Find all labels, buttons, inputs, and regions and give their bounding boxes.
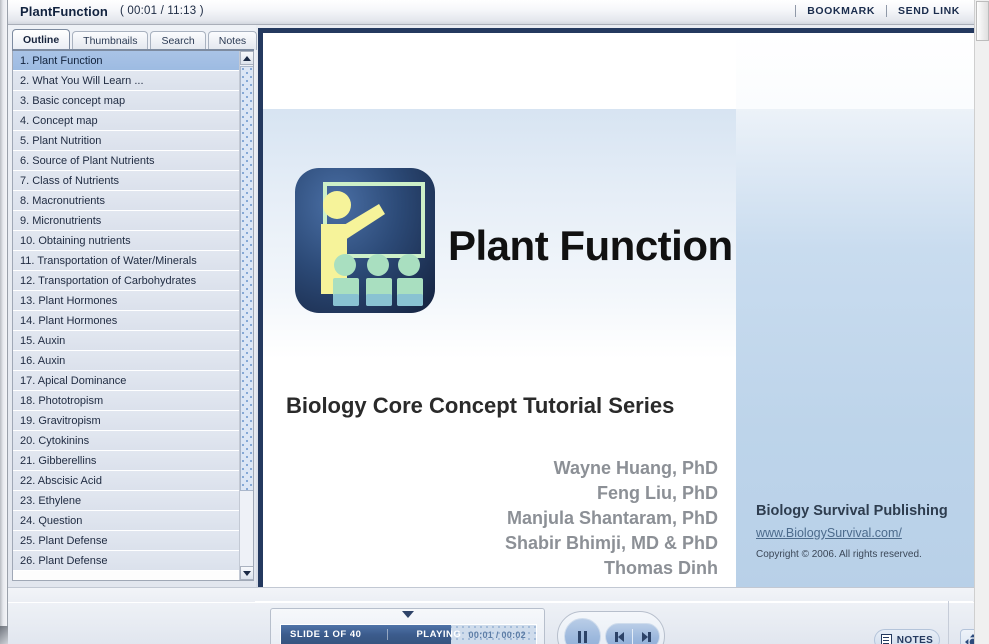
outline-item[interactable]: 23. Ethylene: [13, 491, 241, 511]
pause-icon: [578, 631, 587, 643]
titlebar-actions: BOOKMARK SEND LINK: [784, 5, 960, 17]
control-bar-divider: [948, 601, 949, 644]
step-buttons: [605, 623, 660, 644]
caret-down-icon[interactable]: [402, 611, 414, 618]
outline-item[interactable]: 11. Transportation of Water/Minerals: [13, 251, 241, 271]
author-line: Manjula Shantaram, PhD: [263, 506, 718, 531]
separator: [387, 629, 388, 640]
outline-item[interactable]: 3. Basic concept map: [13, 91, 241, 111]
chevron-down-icon: [243, 571, 251, 576]
separator: [886, 5, 887, 17]
pause-button[interactable]: [564, 618, 601, 644]
progress-bar[interactable]: SLIDE 1 OF 40 PLAYING 00:01 / 00:02: [280, 624, 537, 644]
outline-item[interactable]: 19. Gravitropism: [13, 411, 241, 431]
publisher-name: Biology Survival Publishing: [756, 503, 983, 519]
outline-item[interactable]: 6. Source of Plant Nutrients: [13, 151, 241, 171]
tab-thumbnails[interactable]: Thumbnails: [72, 31, 148, 50]
tab-notes[interactable]: Notes: [208, 31, 257, 50]
titlebar: PlantFunction ( 00:01 / 11:13 ) BOOKMARK…: [8, 0, 974, 25]
scrollbar-thumb[interactable]: [240, 66, 254, 491]
notes-button[interactable]: NOTES: [874, 629, 940, 644]
sidebar: Outline Thumbnails Search Notes 1. Plant…: [8, 25, 256, 587]
scroll-down-button[interactable]: [240, 566, 254, 580]
presentation-player-window: PlantFunction ( 00:01 / 11:13 ) BOOKMARK…: [0, 0, 989, 644]
outline-item[interactable]: 26. Plant Defense: [13, 551, 241, 571]
author-line: Feng Liu, PhD: [263, 481, 718, 506]
page-scrollbar-thumb[interactable]: [976, 1, 989, 41]
outline-item[interactable]: 8. Macronutrients: [13, 191, 241, 211]
outline-item[interactable]: 12. Transportation of Carbohydrates: [13, 271, 241, 291]
outline-item[interactable]: 14. Plant Hormones: [13, 311, 241, 331]
copyright-text: Copyright © 2006. All rights reserved.: [756, 549, 983, 560]
separator: [795, 5, 796, 17]
next-slide-button[interactable]: [633, 632, 659, 642]
player-stage: Outline Thumbnails Search Notes 1. Plant…: [8, 25, 974, 644]
outline-scrollbar[interactable]: [239, 51, 253, 580]
notes-button-label: NOTES: [897, 635, 933, 644]
app-title: PlantFunction: [20, 4, 108, 19]
publisher-url-link[interactable]: www.BiologySurvival.com/: [756, 526, 902, 540]
outline-item[interactable]: 21. Gibberellins: [13, 451, 241, 471]
control-bar-highlight: [255, 601, 973, 602]
playback-controls: [557, 611, 665, 644]
outline-item[interactable]: 1. Plant Function: [13, 51, 241, 71]
author-line: Thomas Dinh: [263, 556, 718, 581]
publisher-block: Biology Survival Publishing www.BiologyS…: [756, 503, 983, 560]
slide-subtitle: Biology Core Concept Tutorial Series: [286, 393, 674, 419]
scroll-up-button[interactable]: [240, 51, 254, 65]
outline-item[interactable]: 15. Auxin: [13, 331, 241, 351]
author-line: Shabir Bhimji, MD & PhD: [263, 531, 718, 556]
send-link-button[interactable]: SEND LINK: [898, 5, 960, 17]
outline-item[interactable]: 2. What You Will Learn ...: [13, 71, 241, 91]
tab-outline[interactable]: Outline: [12, 29, 70, 50]
outline-list[interactable]: 1. Plant Function2. What You Will Learn …: [13, 51, 241, 580]
outline-item[interactable]: 10. Obtaining nutrients: [13, 231, 241, 251]
play-state-label: PLAYING: [416, 629, 461, 640]
outline-item[interactable]: 5. Plant Nutrition: [13, 131, 241, 151]
author-line: Wayne Huang, PhD: [263, 456, 718, 481]
outline-item[interactable]: 24. Question: [13, 511, 241, 531]
slide-canvas[interactable]: Plant Function Biology Core Concept Tuto…: [263, 33, 983, 601]
bookmark-button[interactable]: BOOKMARK: [807, 5, 875, 17]
previous-slide-button[interactable]: [606, 632, 632, 642]
progress-panel: SLIDE 1 OF 40 PLAYING 00:01 / 00:02: [270, 608, 545, 644]
slide-frame: Plant Function Biology Core Concept Tuto…: [258, 28, 988, 606]
outline-item[interactable]: 13. Plant Hormones: [13, 291, 241, 311]
chevron-up-icon: [243, 56, 251, 61]
outline-item[interactable]: 17. Apical Dominance: [13, 371, 241, 391]
sidebar-tabs: Outline Thumbnails Search Notes: [12, 30, 256, 50]
slide-main-title: Plant Function: [448, 222, 733, 270]
outline-panel: 1. Plant Function2. What You Will Learn …: [12, 51, 254, 581]
slide-author-list: Wayne Huang, PhDFeng Liu, PhDManjula Sha…: [263, 456, 718, 581]
slide-time-display: 00:01 / 00:02: [469, 630, 526, 640]
outline-item[interactable]: 20. Cytokinins: [13, 431, 241, 451]
slide-right-header-strip: [736, 33, 983, 109]
page-scrollbar[interactable]: [974, 0, 989, 644]
tab-search[interactable]: Search: [150, 31, 205, 50]
window-left-edge: [0, 0, 8, 644]
total-time-display: ( 00:01 / 11:13 ): [120, 5, 204, 17]
outline-item[interactable]: 16. Auxin: [13, 351, 241, 371]
outline-item[interactable]: 4. Concept map: [13, 111, 241, 131]
outline-item[interactable]: 25. Plant Defense: [13, 531, 241, 551]
outline-item[interactable]: 7. Class of Nutrients: [13, 171, 241, 191]
document-icon: [881, 634, 892, 644]
outline-item[interactable]: 22. Abscisic Acid: [13, 471, 241, 491]
slide-counter: SLIDE 1 OF 40: [290, 629, 361, 640]
outline-item[interactable]: 18. Phototropism: [13, 391, 241, 411]
outline-item[interactable]: 9. Micronutrients: [13, 211, 241, 231]
teacher-blackboard-icon: [295, 168, 435, 313]
